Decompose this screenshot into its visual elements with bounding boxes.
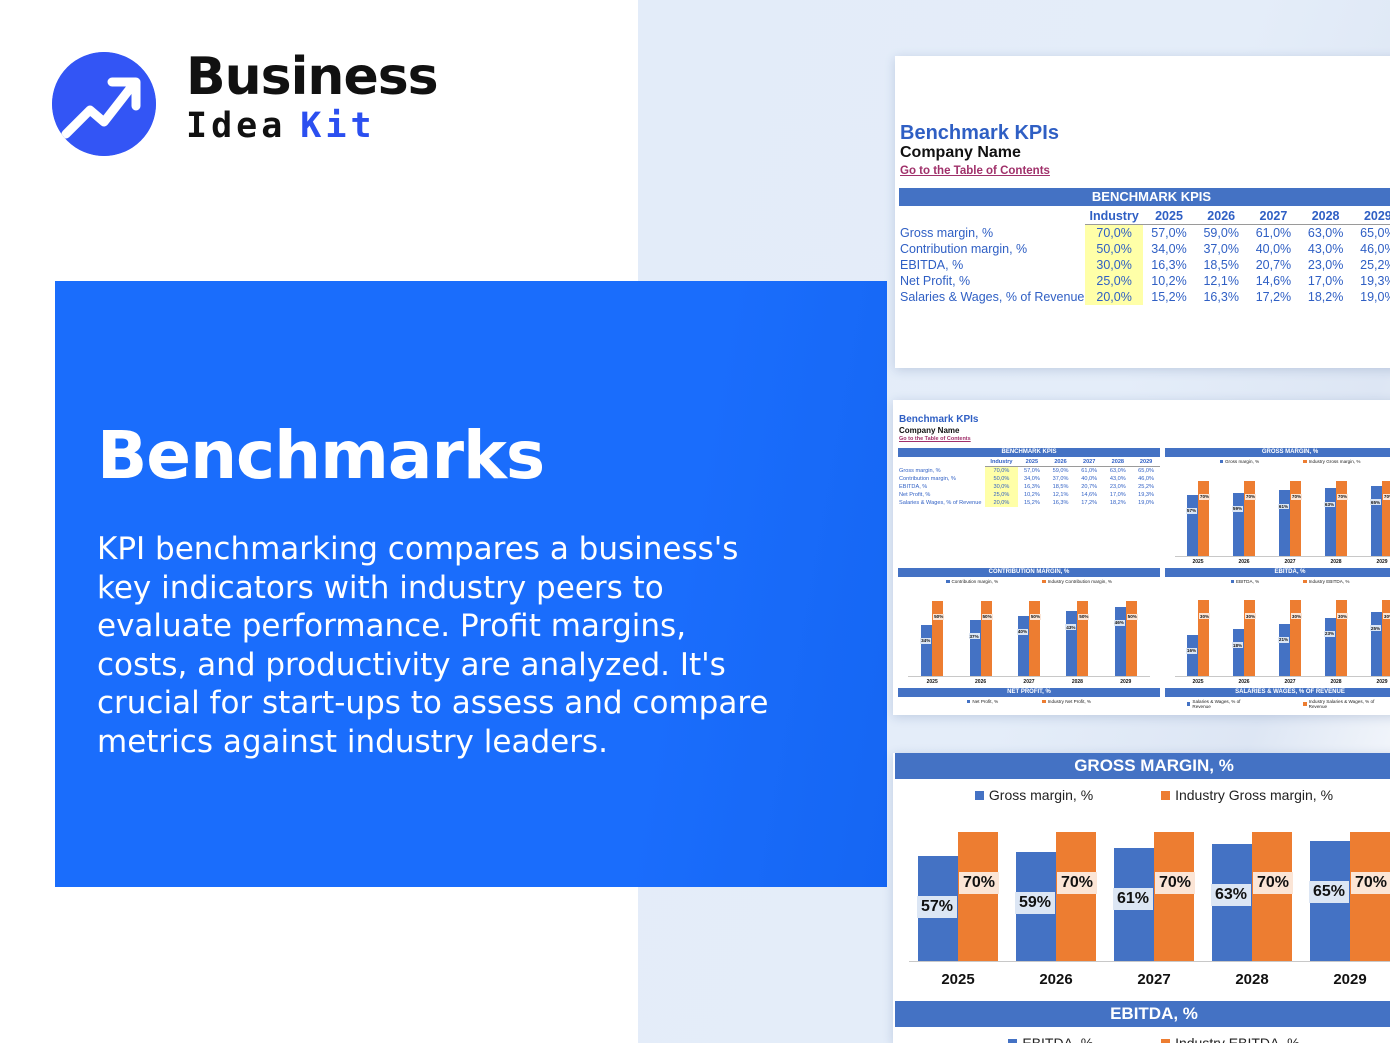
cell-industry: 70,0% [985,467,1017,476]
cell: 20,7% [1075,483,1104,491]
legend-label: Gross margin, % [1225,459,1259,464]
chart-data-label: 30% [1291,613,1302,619]
legend-swatch [1303,460,1307,464]
chart-data-label: 70% [1057,872,1097,894]
cell-industry: 20,0% [985,499,1017,507]
chart-x-label: 2027 [1267,679,1313,685]
chart-data-label: 70% [1291,494,1302,500]
cell: 40,0% [1247,241,1299,257]
cell: 18,2% [1104,499,1133,507]
brand-word-kit: Kit [300,106,375,146]
cell: 16,3% [1195,289,1247,305]
legend-label: Industry Gross margin, % [1309,459,1361,464]
chart-bar [1244,481,1255,556]
cell: 19,0% [1352,289,1390,305]
chart-group: 61%70% [1267,470,1313,556]
cell: 59,0% [1195,225,1247,242]
chart-bar [1018,616,1029,676]
brand-word-idea: Idea [186,106,286,146]
chart-legend: Contribution margin, %Industry Contribut… [898,579,1160,584]
chart-legend: Gross margin, %Industry Gross margin, % [895,787,1390,803]
cell: 23,0% [1104,483,1133,491]
chart-data-label: 70% [1383,494,1390,500]
legend-swatch [967,700,971,704]
chart-data-label: 25% [1370,625,1381,631]
sheet-company: Company Name [900,144,1021,162]
chart-x-label: 2026 [1221,679,1267,685]
cell: 14,6% [1247,273,1299,289]
legend-swatch [946,580,950,584]
col-2029: 2029 [1352,208,1390,225]
cell-industry: 30,0% [985,483,1017,491]
legend-item[interactable]: Contribution margin, % [946,579,998,584]
cell: 23,0% [1300,257,1352,273]
chart-data-label: 40% [1017,629,1028,635]
chart-x-label: 2025 [1175,679,1221,685]
legend-label: Industry Salaries & Wages, % of Revenue [1309,699,1390,709]
chart-bar [1115,607,1126,676]
row-label: Net Profit, % [898,491,985,499]
chart-data-label: 61% [1113,888,1153,910]
cell: 10,2% [1018,491,1047,499]
chart-x-label: 2025 [908,679,956,685]
chart-salaries-wages-mini[interactable]: SALARIES & WAGES, % OF REVENUESalaries &… [1165,688,1390,714]
cell: 16,3% [1046,499,1075,507]
kpi-table-banner-mini: BENCHMARK KPIS [898,448,1160,457]
chart-group: 65%70% [1301,813,1390,961]
legend-item[interactable]: Industry EBITDA, % [1161,1035,1299,1043]
col-2027: 2027 [1247,208,1299,225]
chart-plot-area: 57%70%59%70%61%70%63%70%65%70% [909,813,1390,961]
hero-description: KPI benchmarking compares a business's k… [97,530,777,761]
brand-logo: Business IdeaKit [52,48,452,160]
cell: 17,0% [1300,273,1352,289]
table-row: EBITDA, % 30,0% 16,3% 18,5% 20,7% 23,0% … [898,483,1160,491]
chart-data-label: 57% [917,896,957,918]
cell: 65,0% [1352,225,1390,242]
cell: 34,0% [1143,241,1195,257]
chart-bar [1198,481,1209,556]
chart-x-label: 2029 [1102,679,1150,685]
cell: 17,2% [1247,289,1299,305]
chart-data-label: 70% [1245,494,1256,500]
cell-industry: 30,0% [1085,257,1143,273]
spreadsheet-panel-bottom[interactable]: GROSS MARGIN, %Gross margin, %Industry G… [893,753,1390,1043]
chart-bar [1336,481,1347,556]
chart-data-label: 37% [969,633,980,639]
legend-swatch [1042,580,1046,584]
chart-data-label: 18% [1232,642,1243,648]
brand-word-line2: IdeaKit [186,104,456,154]
col-2028: 2028 [1300,208,1352,225]
chart-bar [1382,600,1390,676]
cell: 14,6% [1075,491,1104,499]
chart-data-label: 59% [1232,506,1243,512]
chart-group: 18%30% [1221,590,1267,676]
chart-x-label: 2029 [1359,679,1390,685]
row-label: Salaries & Wages, % of Revenue [899,289,1085,305]
chart-group: 57%70% [1175,470,1221,556]
brand-wordmark: Business IdeaKit [186,48,456,154]
legend-swatch [1008,1039,1017,1043]
chart-group: 63%70% [1313,470,1359,556]
cell: 43,0% [1104,475,1133,483]
chart-data-label: 46% [1114,620,1125,626]
legend-label: Gross margin, % [989,787,1093,803]
cell: 10,2% [1143,273,1195,289]
chart-ebitda-large-header[interactable]: EBITDA, %EBITDA, %Industry EBITDA, % [895,1001,1390,1043]
cell: 59,0% [1046,467,1075,476]
legend-label: EBITDA, % [1236,579,1259,584]
chart-x-label: 2026 [1007,971,1105,988]
table-row: Salaries & Wages, % of Revenue 20,0% 15,… [898,499,1160,507]
chart-x-label: 2025 [909,971,1007,988]
cell: 46,0% [1352,241,1390,257]
chart-data-label: 63% [1211,884,1251,906]
chart-x-label: 2029 [1301,971,1390,988]
chart-data-label: 50% [933,614,944,620]
chart-x-label: 2029 [1359,559,1390,565]
legend-swatch [1220,460,1224,464]
sheet-title-mini: Benchmark KPIs [899,414,978,425]
cell: 25,2% [1352,257,1390,273]
chart-legend: Net Profit, %Industry Net Profit, % [898,699,1160,704]
legend-swatch [1303,702,1306,706]
legend-swatch [1042,700,1046,704]
cell: 57,0% [1018,467,1047,476]
chart-data-label: 21% [1278,637,1289,643]
chart-group: 59%70% [1221,470,1267,556]
chart-data-label: 70% [959,872,999,894]
chart-bar [1233,493,1244,556]
legend-item[interactable]: Industry Salaries & Wages, % of Revenue [1303,699,1390,709]
cell-industry: 25,0% [985,491,1017,499]
chart-group: 16%30% [1175,590,1221,676]
chart-bar [1290,481,1301,556]
chart-legend: Gross margin, %Industry Gross margin, % [1165,459,1390,464]
cell: 63,0% [1104,467,1133,476]
legend-item[interactable]: Net Profit, % [967,699,998,704]
chart-data-label: 50% [1078,614,1089,620]
legend-item[interactable]: Industry EBITDA, % [1303,579,1349,584]
chart-title: NET PROFIT, % [898,688,1160,697]
spreadsheet-panel-top[interactable]: Benchmark KPIs Company Name Go to the Ta… [895,56,1390,368]
col-industry: Industry [985,458,1017,467]
brand-word-business: Business [186,48,456,106]
chart-bar [1382,481,1390,556]
legend-label: Industry EBITDA, % [1175,1035,1299,1043]
chart-data-label: 50% [982,614,993,620]
legend-swatch [975,791,984,800]
chart-x-label: 2026 [956,679,1004,685]
chart-contribution-margin-mini[interactable]: CONTRIBUTION MARGIN, %Contribution margi… [898,568,1160,688]
chart-x-axis [908,676,1150,677]
chart-legend: Salaries & Wages, % of RevenueIndustry S… [1165,699,1390,709]
chart-group: 59%70% [1007,813,1105,961]
chart-bar [1336,600,1347,676]
cell: 20,7% [1247,257,1299,273]
chart-data-label: 30% [1199,613,1210,619]
chart-x-axis [1175,556,1390,557]
cell: 37,0% [1195,241,1247,257]
chart-group: 21%30% [1267,590,1313,676]
cell: 12,1% [1195,273,1247,289]
col-2028: 2028 [1104,458,1133,467]
chart-title: CONTRIBUTION MARGIN, % [898,568,1160,577]
chart-bar [1154,832,1194,962]
chart-data-label: 43% [1065,624,1076,630]
legend-item[interactable]: Gross margin, % [1220,459,1260,464]
chart-data-label: 59% [1015,892,1055,914]
cell: 12,1% [1046,491,1075,499]
chart-group: 23%30% [1313,590,1359,676]
chart-bar [1198,600,1209,676]
col-2029: 2029 [1132,458,1160,467]
chart-x-axis [1175,676,1390,677]
chart-bar [1325,488,1336,556]
cell: 63,0% [1300,225,1352,242]
table-row: Gross margin, % 70,0% 57,0% 59,0% 61,0% … [899,225,1390,242]
cell: 16,3% [1018,483,1047,491]
cell-industry: 25,0% [1085,273,1143,289]
chart-gross-margin-mini[interactable]: GROSS MARGIN, %Gross margin, %Industry G… [1165,448,1390,568]
row-label: Gross margin, % [899,225,1085,242]
table-of-contents-link-mini[interactable]: Go to the Table of Contents [899,436,971,442]
spreadsheet-panel-middle[interactable]: Benchmark KPIs Company Name Go to the Ta… [893,400,1390,715]
legend-label: Industry Gross margin, % [1175,787,1333,803]
chart-data-label: 50% [1030,614,1041,620]
sheet-title: Benchmark KPIs [900,122,1059,145]
chart-bar [932,601,943,676]
chart-data-label: 63% [1324,502,1335,508]
chart-group: 65%70% [1359,470,1390,556]
page-title: Benchmarks [97,421,544,491]
chart-bar [1056,832,1096,962]
chart-data-label: 70% [1337,494,1348,500]
chart-x-label: 2025 [1175,559,1221,565]
chart-bar [1279,624,1290,676]
cell: 40,0% [1075,475,1104,483]
table-row: EBITDA, % 30,0% 16,3% 18,5% 20,7% 23,0% … [899,257,1390,273]
cell: 25,2% [1132,483,1160,491]
chart-bar [1279,490,1290,556]
legend-swatch [1231,580,1235,584]
cell: 16,3% [1143,257,1195,273]
table-header-row: Industry 2025 2026 2027 2028 2029 [899,208,1390,225]
chart-bar [1252,832,1292,962]
cell: 17,0% [1104,491,1133,499]
chart-data-label: 61% [1278,504,1289,510]
trend-arrow-circle-icon [52,52,156,156]
chart-plot-area: 34%50%37%50%40%50%43%50%46%50% [908,590,1150,676]
chart-data-label: 65% [1370,499,1381,505]
kpi-table-mini: Industry 2025 2026 2027 2028 2029 Gross … [898,458,1160,507]
chart-x-label: 2028 [1313,679,1359,685]
cell: 37,0% [1046,475,1075,483]
chart-data-label: 23% [1324,631,1335,637]
col-2027: 2027 [1075,458,1104,467]
col-2026: 2026 [1195,208,1247,225]
chart-bar [1187,635,1198,676]
table-of-contents-link[interactable]: Go to the Table of Contents [900,165,1050,177]
cell: 46,0% [1132,475,1160,483]
cell: 19,3% [1132,491,1160,499]
chart-net-profit-mini[interactable]: NET PROFIT, %Net Profit, %Industry Net P… [898,688,1160,714]
cell: 19,3% [1352,273,1390,289]
col-2025: 2025 [1143,208,1195,225]
chart-group: 46%50% [1102,590,1150,676]
row-label: EBITDA, % [898,483,985,491]
chart-gross-margin-large[interactable]: GROSS MARGIN, %Gross margin, %Industry G… [895,753,1390,1001]
chart-group: 37%50% [956,590,1004,676]
chart-x-label: 2028 [1203,971,1301,988]
chart-bar [1350,832,1390,962]
chart-x-label: 2027 [1005,679,1053,685]
cell-industry: 20,0% [1085,289,1143,305]
legend-swatch [1187,702,1190,706]
legend-swatch [1161,791,1170,800]
chart-data-label: 30% [1337,613,1348,619]
chart-bar [958,832,998,962]
legend-label: Net Profit, % [972,699,998,704]
cell-industry: 50,0% [1085,241,1143,257]
legend-label: Contribution margin, % [951,579,998,584]
cell: 15,2% [1143,289,1195,305]
chart-data-label: 34% [920,638,931,644]
table-row: Contribution margin, % 50,0% 34,0% 37,0%… [899,241,1390,257]
chart-x-label: 2027 [1105,971,1203,988]
cell: 65,0% [1132,467,1160,476]
legend-item[interactable]: Salaries & Wages, % of Revenue [1187,699,1259,709]
chart-data-label: 70% [1199,494,1210,500]
chart-x-axis [909,961,1390,962]
col-industry: Industry [1085,208,1143,225]
chart-data-label: 16% [1186,648,1197,654]
chart-bar [981,601,992,676]
cell-industry: 70,0% [1085,225,1143,242]
chart-x-label: 2028 [1053,679,1101,685]
row-label: Contribution margin, % [899,241,1085,257]
row-label: Contribution margin, % [898,475,985,483]
row-label: Salaries & Wages, % of Revenue [898,499,985,507]
col-2026: 2026 [1046,458,1075,467]
chart-title: EBITDA, % [1165,568,1390,577]
legend-item[interactable]: Industry Gross margin, % [1161,787,1333,803]
legend-swatch [1161,1039,1170,1043]
sheet-company-mini: Company Name [899,426,959,435]
cell: 18,5% [1195,257,1247,273]
legend-item[interactable]: Industry Net Profit, % [1042,699,1091,704]
cell: 61,0% [1247,225,1299,242]
legend-item[interactable]: Gross margin, % [975,787,1093,803]
chart-bar [1325,618,1336,676]
chart-plot-area: 16%30%18%30%21%30%23%30%25%30% [1175,590,1390,676]
chart-title: SALARIES & WAGES, % OF REVENUE [1165,688,1390,697]
cell: 34,0% [1018,475,1047,483]
legend-item[interactable]: EBITDA, % [1008,1035,1093,1043]
cell: 43,0% [1300,241,1352,257]
chart-bar [1066,611,1077,676]
chart-x-label: 2027 [1267,559,1313,565]
chart-data-label: 70% [1155,872,1195,894]
chart-plot-area: 57%70%59%70%61%70%63%70%65%70% [1175,470,1390,556]
chart-x-label: 2028 [1313,559,1359,565]
chart-group: 40%50% [1005,590,1053,676]
cell: 15,2% [1018,499,1047,507]
chart-bar [1371,612,1382,676]
chart-bar [1029,601,1040,676]
chart-ebitda-mini[interactable]: EBITDA, %EBITDA, %Industry EBITDA, %16%3… [1165,568,1390,688]
chart-group: 57%70% [909,813,1007,961]
chart-group: 34%50% [908,590,956,676]
legend-label: Salaries & Wages, % of Revenue [1192,699,1259,709]
chart-data-label: 50% [1127,614,1138,620]
row-label: Net Profit, % [899,273,1085,289]
chart-group: 43%50% [1053,590,1101,676]
table-row: Salaries & Wages, % of Revenue 20,0% 15,… [899,289,1390,305]
chart-title: GROSS MARGIN, % [1165,448,1390,457]
cell: 17,2% [1075,499,1104,507]
legend-swatch [1303,580,1307,584]
table-row: Contribution margin, % 50,0% 34,0% 37,0%… [898,475,1160,483]
legend-label: Industry Net Profit, % [1048,699,1091,704]
chart-data-label: 70% [1351,872,1390,894]
chart-bar [1290,600,1301,676]
chart-bar [970,620,981,676]
kpi-table: Industry 2025 2026 2027 2028 2029 Gross … [899,208,1390,305]
chart-bar [1244,600,1255,676]
legend-item[interactable]: Industry Contribution margin, % [1042,579,1112,584]
chart-bar [1077,601,1088,676]
legend-item[interactable]: Industry Gross margin, % [1303,459,1360,464]
chart-group: 61%70% [1105,813,1203,961]
chart-legend: EBITDA, %Industry EBITDA, % [1165,579,1390,584]
legend-label: EBITDA, % [1022,1035,1093,1043]
table-row: Net Profit, % 25,0% 10,2% 12,1% 14,6% 17… [898,491,1160,499]
chart-data-label: 57% [1186,508,1197,514]
chart-title: EBITDA, % [895,1001,1390,1027]
legend-label: Industry Contribution margin, % [1048,579,1112,584]
cell: 19,0% [1132,499,1160,507]
kpi-table-banner: BENCHMARK KPIS [899,188,1390,206]
chart-group: 63%70% [1203,813,1301,961]
legend-label: Industry EBITDA, % [1309,579,1350,584]
chart-title: GROSS MARGIN, % [895,753,1390,779]
chart-data-label: 65% [1309,881,1349,903]
cell: 18,2% [1300,289,1352,305]
cell: 57,0% [1143,225,1195,242]
chart-data-label: 30% [1245,613,1256,619]
chart-data-label: 30% [1383,613,1390,619]
chart-bar [1126,601,1137,676]
row-label: Gross margin, % [898,467,985,476]
chart-data-label: 70% [1253,872,1293,894]
table-header-row: Industry 2025 2026 2027 2028 2029 [898,458,1160,467]
table-row: Net Profit, % 25,0% 10,2% 12,1% 14,6% 17… [899,273,1390,289]
cell-industry: 50,0% [985,475,1017,483]
chart-group: 25%30% [1359,590,1390,676]
chart-bar [1371,486,1382,556]
chart-x-label: 2026 [1221,559,1267,565]
cell: 18,5% [1046,483,1075,491]
legend-item[interactable]: EBITDA, % [1231,579,1260,584]
hero-panel: Benchmarks KPI benchmarking compares a b… [55,281,887,887]
cell: 61,0% [1075,467,1104,476]
row-label: EBITDA, % [899,257,1085,273]
table-row: Gross margin, % 70,0% 57,0% 59,0% 61,0% … [898,467,1160,476]
chart-legend: EBITDA, %Industry EBITDA, % [895,1035,1390,1043]
col-2025: 2025 [1018,458,1047,467]
